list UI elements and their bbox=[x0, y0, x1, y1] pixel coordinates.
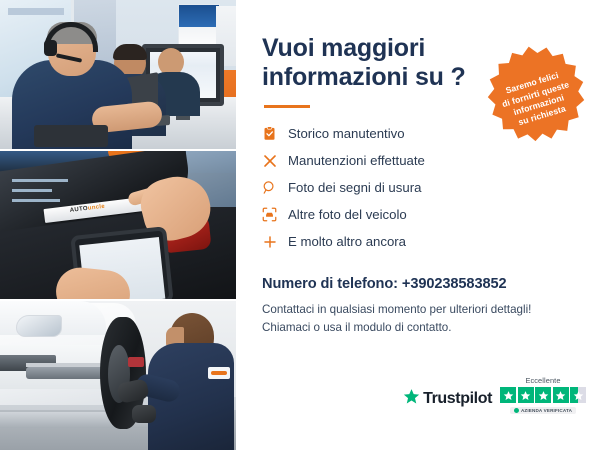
title-underline bbox=[264, 105, 310, 108]
contact-subtext-line2: Chiamaci o usa il modulo di contatto. bbox=[262, 321, 451, 334]
page-title-line2: informazioni su ? bbox=[262, 63, 466, 91]
scan-car-icon bbox=[262, 207, 288, 222]
promo-card: AUTOuncle bbox=[0, 0, 600, 450]
star-filled-icon bbox=[553, 387, 569, 403]
trustpilot-rating-label: Eccellente bbox=[525, 376, 560, 385]
trustpilot-stars bbox=[500, 387, 586, 403]
star-filled-icon bbox=[518, 387, 534, 403]
trustpilot-brand: Trustpilot bbox=[423, 390, 492, 408]
plus-icon bbox=[262, 234, 288, 250]
clipboard-check-icon bbox=[262, 126, 288, 141]
star-filled-icon bbox=[500, 387, 516, 403]
star-filled-icon bbox=[535, 387, 551, 403]
list-item: Altre foto del veicolo bbox=[262, 201, 578, 228]
list-item-label: Altre foto del veicolo bbox=[288, 207, 407, 222]
trustpilot-logo: Trustpilot bbox=[403, 388, 492, 414]
phone-label: Numero di telefono: bbox=[262, 276, 402, 292]
trustpilot-widget[interactable]: Trustpilot Eccellente AZIENDA VERIFICATA bbox=[403, 376, 586, 414]
photo-call-center bbox=[0, 0, 236, 149]
photo-column: AUTOuncle bbox=[0, 0, 236, 450]
contact-subtext-line1: Contattaci in qualsiasi momento per ulte… bbox=[262, 303, 531, 316]
page-title: Vuoi maggiori informazioni su ? bbox=[262, 34, 477, 92]
magnifier-icon bbox=[262, 180, 288, 195]
verified-badge-label: AZIENDA VERIFICATA bbox=[521, 408, 572, 413]
list-item-label: E molto altro ancora bbox=[288, 234, 406, 249]
list-item: E molto altro ancora bbox=[262, 228, 578, 255]
trustpilot-star-icon bbox=[403, 388, 420, 410]
list-item: Foto dei segni di usura bbox=[262, 174, 578, 201]
badge-text: Saremo felici di fornirti queste informa… bbox=[487, 65, 588, 135]
list-item-label: Manutenzioni effettuate bbox=[288, 153, 425, 168]
list-item-label: Storico manutentivo bbox=[288, 126, 405, 141]
trustpilot-rating: Eccellente AZIENDA VERIFICATA bbox=[500, 376, 586, 414]
photo-mechanic-wheel bbox=[0, 301, 236, 450]
list-item-label: Foto dei segni di usura bbox=[288, 180, 421, 195]
star-half-icon bbox=[570, 387, 586, 403]
verified-badge: AZIENDA VERIFICATA bbox=[510, 407, 576, 414]
page-title-line1: Vuoi maggiori bbox=[262, 34, 425, 62]
phone-number[interactable]: +390238583852 bbox=[402, 276, 507, 292]
photo-vin-sticker: AUTOuncle bbox=[0, 151, 236, 300]
phone-number-line: Numero di telefono: +390238583852 bbox=[262, 276, 578, 292]
content-panel: Vuoi maggiori informazioni su ? Storico … bbox=[236, 0, 600, 450]
tools-cross-icon bbox=[262, 153, 288, 169]
contact-subtext: Contattaci in qualsiasi momento per ulte… bbox=[262, 301, 562, 336]
verified-check-icon bbox=[514, 408, 519, 413]
callout-badge: Saremo felici di fornirti queste informa… bbox=[474, 36, 600, 162]
